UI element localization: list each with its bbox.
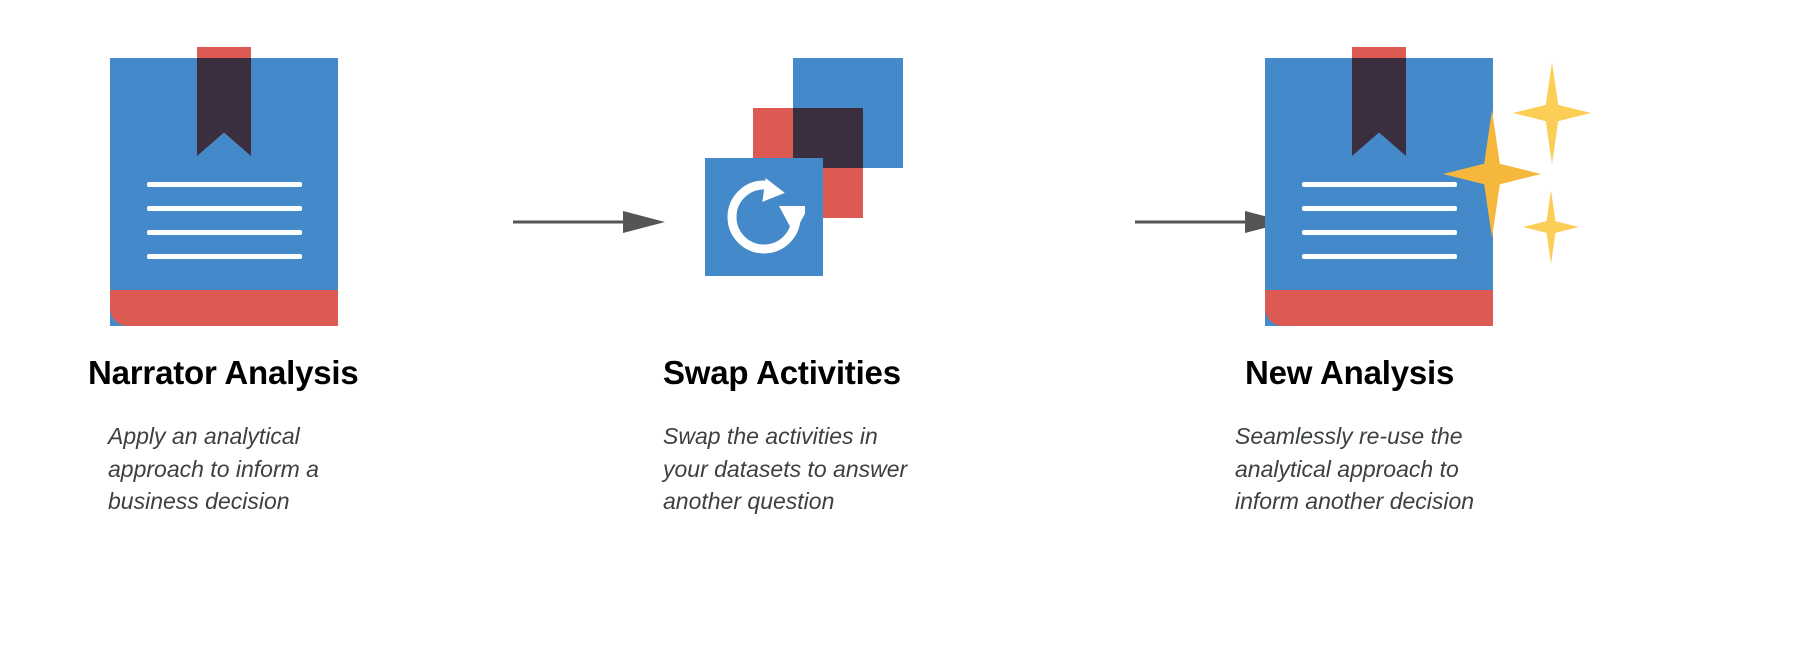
refresh-arrow-icon (723, 176, 805, 258)
swap-refresh-squares-icon (705, 58, 925, 273)
book-text-lines (1302, 182, 1457, 278)
sparkle-medium-icon (1513, 62, 1591, 164)
step-2-title: Swap Activities (663, 355, 901, 391)
step-3-artwork (1215, 0, 1675, 330)
book-line (1302, 206, 1457, 211)
book-bookmark-sparkles-icon (1265, 58, 1493, 326)
book-base (110, 290, 338, 326)
book-base (1265, 290, 1493, 326)
step-1-description: Apply an analytical approach to inform a… (108, 420, 408, 518)
book-text-lines (147, 182, 302, 278)
step-3-description: Seamlessly re-use the analytical approac… (1235, 420, 1535, 518)
book-line (147, 182, 302, 187)
step-new-analysis: New Analysis Seamlessly re-use the analy… (1215, 0, 1675, 654)
step-swap-activities: Swap Activities Swap the activities in y… (640, 0, 1100, 654)
book-line (147, 230, 302, 235)
step-2-artwork (640, 0, 1100, 330)
step-3-title: New Analysis (1245, 355, 1454, 391)
step-1-artwork (60, 0, 520, 330)
step-1-title: Narrator Analysis (88, 355, 359, 391)
book-bookmark-icon (110, 58, 338, 326)
book-line (147, 254, 302, 259)
book-line (1302, 254, 1457, 259)
step-2-description: Swap the activities in your datasets to … (663, 420, 963, 518)
step-narrator-analysis: Narrator Analysis Apply an analytical ap… (60, 0, 520, 654)
book-line (147, 206, 302, 211)
process-flow-diagram: Narrator Analysis Apply an analytical ap… (0, 0, 1794, 654)
sparkle-small-icon (1523, 190, 1579, 264)
book-line (1302, 230, 1457, 235)
book-line (1302, 182, 1457, 187)
